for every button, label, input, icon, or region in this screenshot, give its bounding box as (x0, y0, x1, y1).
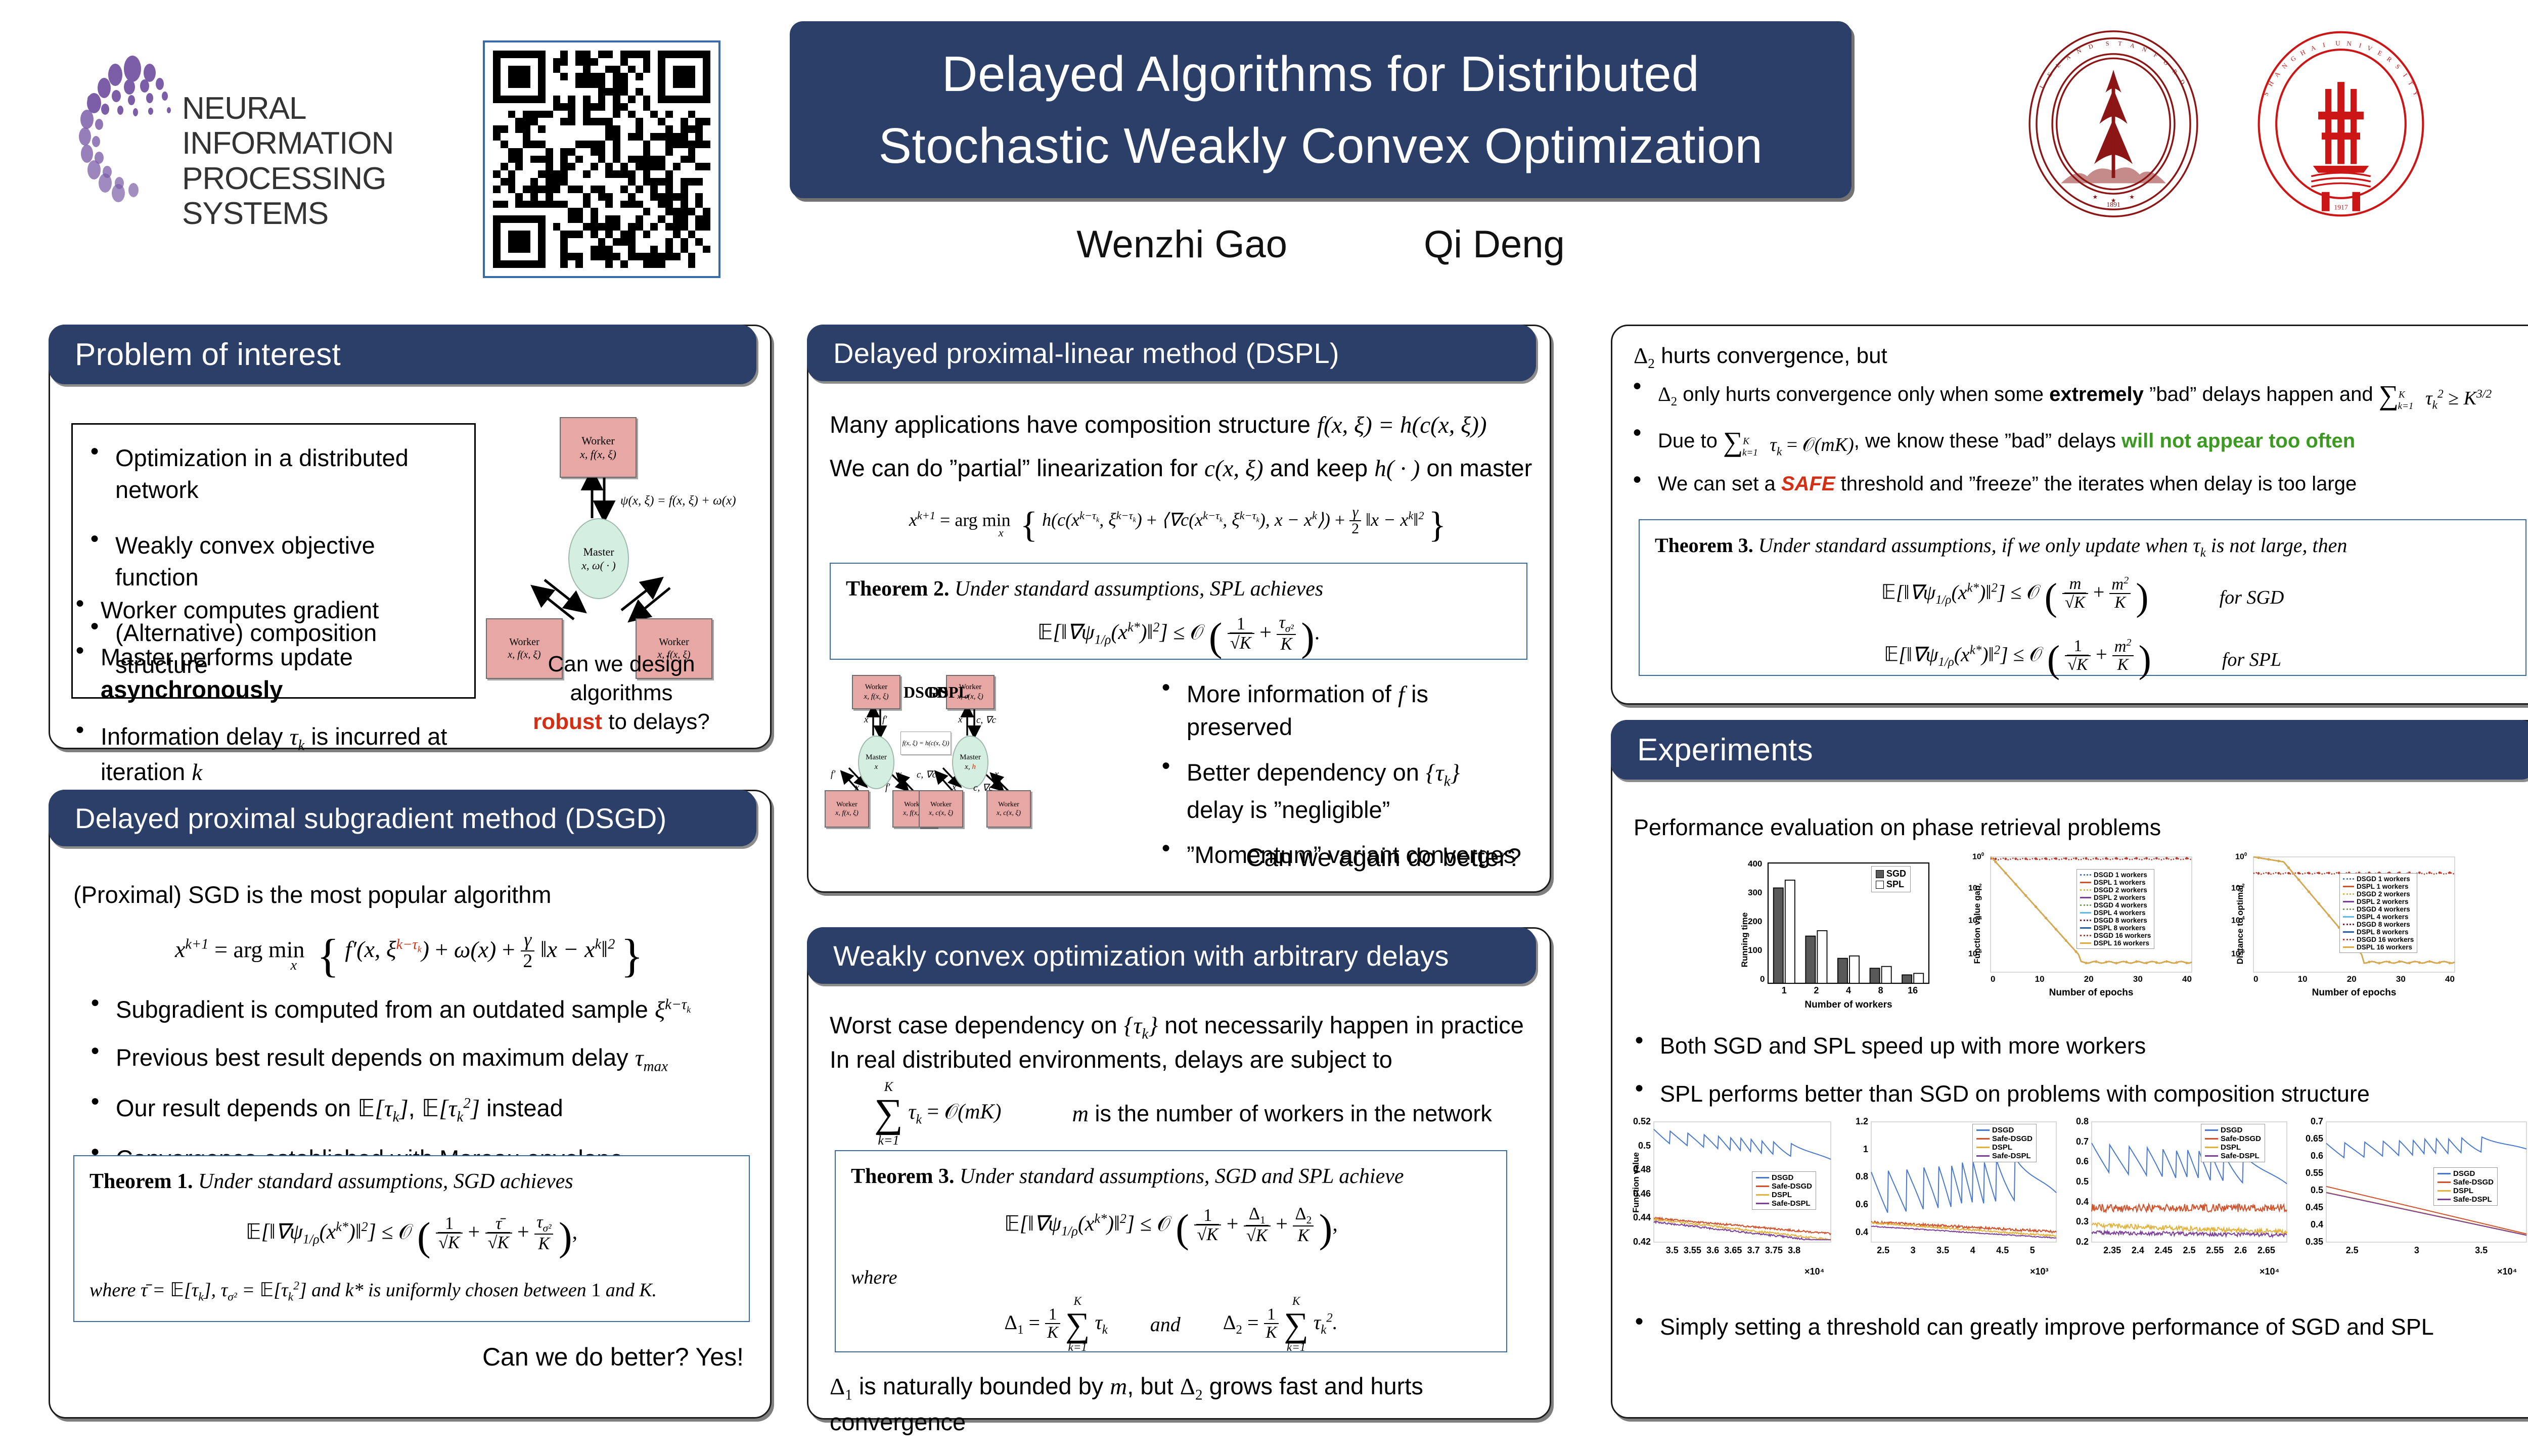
legend-swatch (2343, 878, 2354, 880)
qr-module (650, 156, 658, 163)
qr-module (508, 118, 516, 125)
qr-module (515, 103, 523, 111)
qr-module (628, 103, 636, 111)
qr-module (546, 148, 553, 156)
xtick: 3 (1900, 1245, 1926, 1256)
worker-sublabel: x, f(x, ξ) (835, 809, 859, 818)
chart-series-marker (2277, 872, 2280, 875)
qr-module (643, 186, 651, 193)
qr-module (643, 238, 651, 246)
qr-module (643, 231, 651, 238)
xtick: 10 (2298, 974, 2308, 984)
qr-module (703, 208, 710, 215)
qr-module (501, 193, 508, 201)
qr-module (613, 178, 620, 186)
qr-module (695, 66, 703, 73)
author-list: Wenzhi Gao Qi Deng (790, 222, 1852, 266)
qr-module (523, 178, 530, 186)
qr-module (673, 96, 681, 103)
qr-module (688, 170, 696, 178)
ytick: 0.4 (2296, 1219, 2323, 1230)
qr-module (688, 260, 696, 268)
xtick: 20 (2084, 974, 2094, 984)
dsgd-update-equation: xk+1 = arg minx { f′(x, ξk−τk) + ω(x) + … (70, 929, 748, 982)
qr-module (620, 125, 628, 133)
legend-swatch (1756, 1194, 1769, 1196)
qr-module (695, 96, 703, 103)
qr-module (508, 238, 516, 246)
legend-label: Safe-DSGD (1992, 1134, 2033, 1143)
qr-module (620, 260, 628, 268)
ytick: 0.8 (2065, 1116, 2089, 1127)
qr-module (546, 88, 553, 96)
qr-module (538, 58, 546, 66)
qr-module (575, 156, 583, 163)
qr-module (681, 170, 688, 178)
qr-module (605, 58, 613, 66)
qr-module (703, 66, 710, 73)
qr-module (628, 66, 636, 73)
chart-safe4-svg (2296, 1117, 2528, 1299)
qr-module (650, 208, 658, 215)
qr-module (568, 186, 575, 193)
qr-module (665, 133, 673, 141)
qr-module (620, 118, 628, 125)
xtick: 2.35 (2099, 1245, 2126, 1256)
dsgd-worker-top: Worker x, f(x, ξ) (852, 675, 900, 709)
qr-module (688, 148, 696, 156)
qr-module (681, 111, 688, 118)
qr-module (508, 133, 516, 141)
problem-question-line1: Can we design algorithms (495, 650, 748, 707)
qr-module (673, 178, 681, 186)
qr-module (560, 58, 568, 66)
qr-module (658, 186, 665, 193)
theorem-1-equation: 𝔼[‖∇ψ1/ρ(xk*)‖2] ≤ 𝒪 ( 1√K + τ̄√K + τσ²K… (89, 1214, 734, 1260)
qr-module (613, 51, 620, 58)
legend-label: DSGD 16 workers (2357, 936, 2414, 943)
qr-module (598, 163, 606, 170)
chart-series-line (1871, 1221, 2056, 1233)
qr-module (628, 223, 636, 231)
legend-swatch (2437, 1173, 2451, 1174)
svg-text:H: H (2266, 79, 2275, 87)
legend-label: DSPL 16 workers (2357, 943, 2412, 951)
qr-module (628, 148, 636, 156)
qr-module (591, 125, 598, 133)
theorem-3b-eq-sgd: 𝔼[‖∇ψ1/ρ(xk*)‖2] ≤ 𝒪 ( m√K + m2K ) for S… (1655, 575, 2510, 619)
svg-text:S: S (2105, 40, 2110, 48)
qr-module (643, 260, 651, 268)
dsgd-intro: (Proximal) SGD is the most popular algor… (73, 878, 552, 912)
qr-module (688, 141, 696, 148)
qr-module (598, 223, 606, 231)
edge-label-cgc-2: c, ∇c (917, 769, 936, 781)
qr-module (681, 163, 688, 170)
qr-module (620, 96, 628, 103)
qr-module (598, 148, 606, 156)
panel-arbitrary-title: Weakly convex optimization with arbitrar… (807, 939, 1449, 972)
qr-module (515, 141, 523, 148)
legend-item: DSGD 4 workers (2343, 905, 2414, 913)
qr-module (703, 141, 710, 148)
qr-code[interactable] (483, 40, 720, 278)
theorem-3a-number: Theorem 3. (851, 1165, 955, 1188)
chart-series-marker (2449, 962, 2451, 965)
qr-module (508, 215, 516, 223)
qr-module (673, 223, 681, 231)
qr-module (583, 111, 591, 118)
qr-module (681, 133, 688, 141)
qr-module (643, 58, 651, 66)
qr-module (613, 253, 620, 260)
qr-module (515, 186, 523, 193)
qr-module (605, 148, 613, 156)
qr-module (613, 246, 620, 253)
qr-module (605, 96, 613, 103)
legend-label: DSPL 8 workers (2094, 924, 2146, 932)
qr-module (501, 246, 508, 253)
ytick: 1.2 (1845, 1116, 1868, 1127)
qr-module (523, 73, 530, 80)
bar (1849, 956, 1859, 983)
qr-module (673, 186, 681, 193)
qr-module (636, 88, 643, 96)
qr-module (583, 125, 591, 133)
qr-module (688, 111, 696, 118)
qr-module (553, 96, 561, 103)
qr-module (583, 88, 591, 96)
qr-module (575, 141, 583, 148)
qr-module (560, 156, 568, 163)
qr-module (681, 125, 688, 133)
legend-swatch (2343, 939, 2354, 940)
qr-module (583, 260, 591, 268)
qr-module (598, 215, 606, 223)
qr-module (546, 223, 553, 231)
qr-module (553, 58, 561, 66)
legend-item: DSPL 1 workers (2343, 883, 2414, 890)
chart-series-marker (2045, 857, 2047, 860)
qr-module (538, 141, 546, 148)
qr-module (591, 118, 598, 125)
worker-label: Worker (509, 636, 539, 649)
qr-module (508, 223, 516, 231)
qr-module (530, 186, 538, 193)
qr-module (508, 253, 516, 260)
chart-series-line (1991, 858, 2192, 860)
qr-module (553, 215, 561, 223)
qr-module (688, 201, 696, 208)
qr-module (553, 51, 561, 58)
qr-module (688, 118, 696, 125)
qr-module (605, 51, 613, 58)
qr-module (695, 238, 703, 246)
qr-module (560, 215, 568, 223)
qr-module (538, 125, 546, 133)
qr-module (628, 170, 636, 178)
qr-module (605, 260, 613, 268)
chart-series-marker (1995, 860, 1997, 863)
qr-module (523, 148, 530, 156)
qr-module (613, 80, 620, 88)
chart-series-marker (2439, 872, 2441, 874)
qr-module (643, 208, 651, 215)
qr-module (688, 186, 696, 193)
qr-module (650, 238, 658, 246)
chart-series-marker (2268, 872, 2270, 875)
qr-module (598, 80, 606, 88)
qr-module (703, 133, 710, 141)
qr-module (598, 141, 606, 148)
chart-series-marker (2318, 902, 2320, 905)
qr-module (613, 208, 620, 215)
qr-module (523, 186, 530, 193)
qr-module (620, 253, 628, 260)
qr-module (553, 246, 561, 253)
dspl-closing: Can we again do better? (1246, 843, 1521, 872)
qr-module (613, 163, 620, 170)
qr-module (546, 66, 553, 73)
chart-running-time-xlabel: Number of workers (1768, 999, 1929, 1011)
legend-label: Safe-DSGD (2221, 1134, 2261, 1143)
qr-module (568, 133, 575, 141)
ytick: 0.55 (2296, 1168, 2323, 1178)
qr-module (598, 201, 606, 208)
xtick: 3 (2404, 1245, 2430, 1256)
qr-module (605, 88, 613, 96)
qr-module (673, 133, 681, 141)
qr-module (560, 103, 568, 111)
chart-series-marker (2035, 905, 2037, 908)
qr-module (508, 170, 516, 178)
qr-module (658, 141, 665, 148)
qr-module (665, 208, 673, 215)
chart-series-marker (2105, 961, 2108, 964)
legend-label: DSGD 4 workers (2357, 905, 2410, 913)
qr-module (665, 148, 673, 156)
qr-module (636, 156, 643, 163)
svg-text:G: G (2289, 54, 2297, 63)
ytick: 0.7 (2296, 1116, 2323, 1127)
qr-module (673, 51, 681, 58)
legend-item: DSGD 8 workers (2080, 917, 2151, 924)
qr-module (515, 201, 523, 208)
qr-module (515, 215, 523, 223)
xtick: 4 (1960, 1245, 1986, 1256)
qr-module (695, 260, 703, 268)
qr-module (501, 73, 508, 80)
qr-module (591, 238, 598, 246)
qr-module (688, 208, 696, 215)
legend-swatch-sgd (1876, 870, 1884, 878)
edge-label-fp-1: f′ (882, 714, 887, 725)
bar (1914, 973, 1923, 983)
stanford-seal-logo: L E L A N D S T A N F O R D 1891 ★★★ (2017, 28, 2209, 220)
safe-theorem-box: Theorem 3. Under standard assumptions, i… (1639, 519, 2526, 676)
qr-module (605, 133, 613, 141)
qr-module (598, 73, 606, 80)
qr-module (620, 231, 628, 238)
worker-label: Worker (865, 682, 888, 692)
legend-swatch (2437, 1181, 2451, 1183)
legend-swatch (2080, 912, 2091, 914)
qr-module (530, 103, 538, 111)
qr-module (658, 156, 665, 163)
xtick: 2.6 (2228, 1245, 2254, 1256)
ytick: 0.2 (2065, 1237, 2089, 1247)
chart-series-marker (2398, 961, 2401, 963)
worker-label: Worker (659, 636, 689, 649)
chart-series-marker (2418, 872, 2421, 874)
legend-label: DSPL 1 workers (2094, 879, 2146, 886)
chart-series-marker (2055, 928, 2057, 931)
qr-module (628, 96, 636, 103)
ytick: 0.42 (1619, 1237, 1651, 1247)
qr-module (501, 133, 508, 141)
legend-label: DSPL 4 workers (2094, 909, 2146, 917)
qr-module (493, 193, 501, 201)
qr-module (560, 170, 568, 178)
qr-module (650, 148, 658, 156)
qr-module (546, 178, 553, 186)
qr-module (515, 96, 523, 103)
dspl-worker-left: Worker x, c(x, ξ) (919, 790, 963, 828)
qr-module (538, 80, 546, 88)
svg-text:A: A (2310, 43, 2317, 53)
ytick: 0.5 (1619, 1141, 1651, 1151)
chart-series-marker (2075, 950, 2078, 953)
svg-text:H: H (2299, 48, 2307, 57)
qr-module (546, 170, 553, 178)
qr-module (628, 73, 636, 80)
xtick: 1 (1768, 985, 1800, 996)
qr-module (523, 118, 530, 125)
qr-module (658, 148, 665, 156)
qr-module (575, 96, 583, 103)
chart-series-marker (2186, 962, 2188, 965)
qr-module (636, 118, 643, 125)
qr-module (523, 260, 530, 268)
qr-module (591, 58, 598, 66)
qr-module (583, 238, 591, 246)
qr-module (515, 163, 523, 170)
theorem-3a-and: and (1150, 1312, 1181, 1336)
legend-label: DSPL 16 workers (2094, 939, 2149, 947)
qr-module (530, 125, 538, 133)
qr-module (681, 88, 688, 96)
qr-module (703, 253, 710, 260)
qr-module (665, 253, 673, 260)
qr-module (523, 111, 530, 118)
legend-item: DSGD (2437, 1169, 2494, 1178)
qr-module (568, 178, 575, 186)
qr-module (568, 125, 575, 133)
legend-swatch (2343, 946, 2354, 948)
qr-module (695, 231, 703, 238)
qr-module (591, 186, 598, 193)
qr-module (538, 96, 546, 103)
qr-module (493, 201, 501, 208)
list-item: Both SGD and SPL speed up with more work… (1631, 1031, 2528, 1062)
qr-module (523, 223, 530, 231)
qr-module (605, 141, 613, 148)
xtick: 40 (2445, 974, 2455, 984)
qr-module (538, 51, 546, 58)
qr-module (605, 125, 613, 133)
qr-module (695, 253, 703, 260)
qr-module (598, 246, 606, 253)
qr-module (703, 163, 710, 170)
ytick: 0.6 (2296, 1151, 2323, 1161)
chart-safe3-legend: DSGDSafe-DSGDDSPLSafe-DSPL (2201, 1124, 2265, 1162)
legend-item: DSGD (2205, 1126, 2261, 1134)
svg-text:N: N (2141, 45, 2149, 54)
worker-sublabel: x, c(x, ξ) (997, 809, 1021, 818)
qr-module (530, 260, 538, 268)
qr-module (665, 178, 673, 186)
legend-label-spl: SPL (1886, 879, 1904, 890)
qr-module (575, 88, 583, 96)
theorem-1-number: Theorem 1. (89, 1170, 193, 1193)
qr-module (650, 58, 658, 66)
legend-swatch (2080, 874, 2091, 876)
qr-module (636, 260, 643, 268)
qr-module (546, 156, 553, 163)
legend-item: DSPL (2437, 1187, 2494, 1195)
qr-module (665, 193, 673, 201)
qr-module (620, 223, 628, 231)
qr-module (636, 111, 643, 118)
qr-module (530, 231, 538, 238)
qr-module (613, 148, 620, 156)
qr-module (658, 58, 665, 66)
qr-module (493, 260, 501, 268)
dspl-line-2: We can do ”partial” linearization for c(… (830, 451, 1532, 486)
edge-label-x-1: x (864, 714, 868, 725)
chart-series-marker (2308, 872, 2310, 875)
qr-module (628, 246, 636, 253)
chart-series-marker (2258, 856, 2260, 859)
list-item: Master performs update asynchronously (71, 641, 506, 705)
qr-module (688, 231, 696, 238)
qr-module (665, 238, 673, 246)
poster-title-line-1: Delayed Algorithms for Distributed (942, 38, 1700, 110)
qr-module (605, 193, 613, 201)
worker-label: Worker (998, 800, 1019, 809)
svg-text:I: I (2402, 72, 2409, 78)
legend-label: Safe-DSPL (1772, 1199, 1811, 1208)
qr-module (553, 260, 561, 268)
qr-module (546, 253, 553, 260)
xtick: 0 (2253, 974, 2258, 984)
qr-module (523, 208, 530, 215)
theorem-3b-eq-spl: 𝔼[‖∇ψ1/ρ(xk*)‖2] ≤ 𝒪 ( 1√K + m2K ) for S… (1655, 638, 2510, 681)
dspl-line2-math1: c(x, ξ) (1204, 456, 1263, 482)
qr-module (575, 201, 583, 208)
qr-module (508, 178, 516, 186)
chart-series-marker (2368, 961, 2371, 964)
qr-module (553, 125, 561, 133)
svg-text:A: A (2064, 53, 2072, 61)
chart-series-marker (2268, 858, 2270, 861)
qr-module (591, 246, 598, 253)
qr-module (568, 246, 575, 253)
qr-module (703, 118, 710, 125)
qr-module (628, 141, 636, 148)
qr-module (673, 215, 681, 223)
qr-module (658, 103, 665, 111)
